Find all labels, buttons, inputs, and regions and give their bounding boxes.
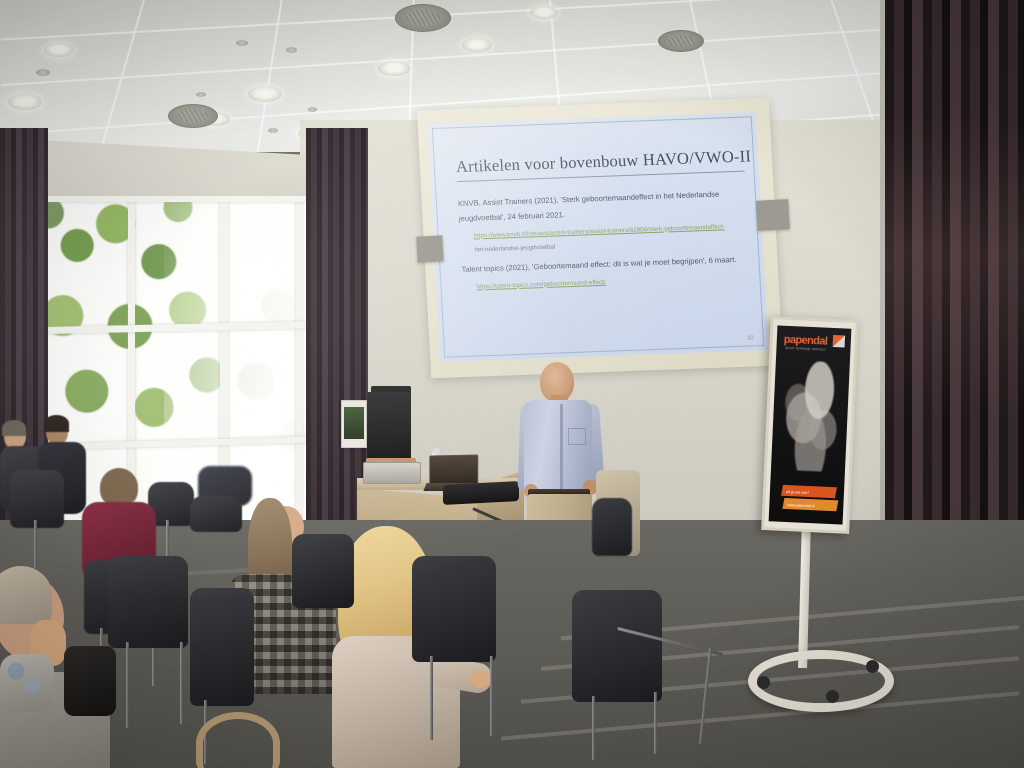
smoke-detector-icon (196, 92, 206, 97)
chair-leg (592, 696, 595, 760)
smoke-detector-icon (36, 69, 50, 76)
caster-wheel-icon (866, 660, 879, 673)
chair-leg (430, 656, 433, 740)
ceiling-downlight (530, 6, 558, 19)
slide-body: KNVB, Assist Trainers (2021), 'Sterk geb… (458, 186, 753, 295)
chair-back[interactable] (592, 498, 632, 556)
smoke-detector-icon (286, 47, 297, 53)
chair-back[interactable] (572, 590, 662, 702)
presenter-shirt-placket (560, 404, 563, 496)
poster-board[interactable]: papendal sport beweegt mensen wil jij on… (761, 316, 859, 534)
poster-athletes-image (775, 360, 846, 473)
presentation-room-photo: Artikelen voor bovenbouw HAVO/VWO-II KNV… (0, 0, 1024, 768)
audience-hand (470, 670, 490, 688)
window (44, 196, 328, 526)
window-frame-top (44, 196, 328, 202)
ceiling-downlight (462, 38, 492, 52)
chair-leg (654, 692, 657, 754)
papendal-logo-mark-icon (833, 335, 846, 348)
audience-bag (64, 646, 116, 716)
audience-hair (2, 420, 26, 436)
ceiling-downlight (8, 94, 42, 110)
chair-back[interactable] (10, 470, 64, 528)
ceiling-downlight (378, 61, 410, 76)
window-mullion-vertical (296, 196, 302, 526)
projection-screen[interactable]: Artikelen voor bovenbouw HAVO/VWO-II KNV… (428, 112, 769, 362)
chair-back[interactable] (108, 556, 188, 648)
ceiling-downlight (248, 86, 282, 102)
chair-leg (34, 520, 37, 568)
wall-picture-image (344, 407, 364, 439)
flight-case (363, 462, 421, 484)
slide-page-number: 10 (747, 335, 754, 341)
audience-hair (100, 468, 138, 506)
smoke-detector-icon (268, 128, 278, 133)
ceiling-air-vent (658, 30, 704, 52)
poster-artwork: papendal sport beweegt mensen wil jij on… (769, 325, 852, 524)
ceiling-air-vent (168, 104, 218, 128)
chair-back[interactable] (190, 496, 242, 532)
presenter-shirt-pocket (568, 428, 586, 445)
screen-mount-left (416, 235, 443, 262)
chair-leg (490, 656, 493, 736)
speaker-cabinet (367, 392, 411, 462)
laptop-bag (443, 481, 519, 505)
caster-wheel-icon (757, 676, 770, 689)
audience-hair (44, 415, 69, 432)
presenter-shirt (524, 400, 592, 498)
chair-back[interactable] (190, 588, 254, 706)
audience-garment-detail (0, 654, 54, 712)
wall-picture-frame (341, 400, 367, 448)
chair-leg (180, 642, 183, 724)
smoke-detector-icon (236, 40, 248, 46)
ceiling-air-vent (395, 4, 451, 32)
ceiling-downlight (44, 43, 74, 57)
smoke-detector-icon (308, 107, 317, 112)
chair-back[interactable] (292, 534, 354, 608)
papendal-tagline: sport beweegt mensen (785, 346, 825, 352)
chair-leg (126, 642, 129, 728)
bag-strap (196, 712, 280, 768)
caster-wheel-icon (826, 690, 839, 703)
screen-mount-right (756, 199, 790, 231)
chair-back[interactable] (412, 556, 496, 662)
